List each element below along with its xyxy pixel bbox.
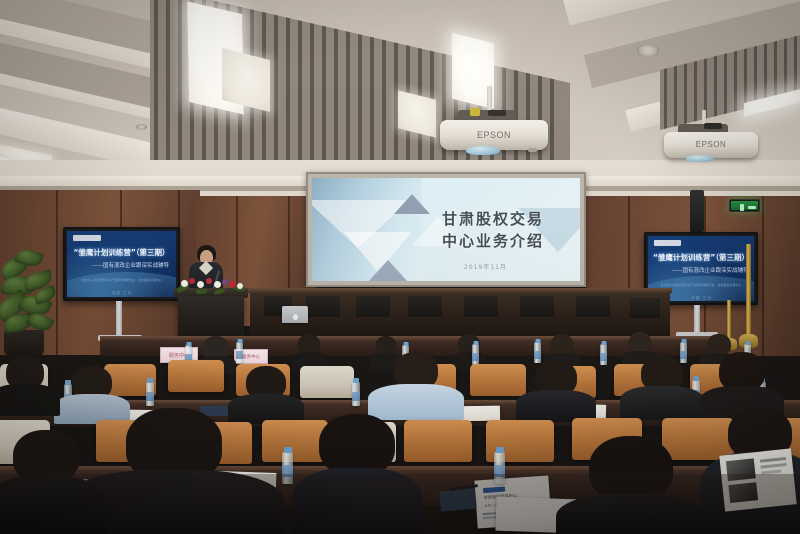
audience-person bbox=[516, 360, 596, 416]
water-bottle bbox=[472, 344, 479, 365]
magazine-text-block bbox=[760, 457, 786, 463]
projector-lens bbox=[466, 146, 500, 155]
tv-left-subtitle: ——国有混改企业跟深实战辅导 bbox=[67, 261, 176, 269]
water-bottle bbox=[352, 382, 360, 406]
chair bbox=[168, 360, 224, 392]
slide-triangle bbox=[368, 260, 408, 281]
monitor-panel bbox=[306, 296, 340, 317]
slide-triangle bbox=[394, 194, 430, 214]
projector-body: EPSON bbox=[664, 132, 758, 158]
wall-speaker bbox=[690, 190, 704, 232]
person-torso bbox=[0, 384, 60, 416]
tv-left-footer: 中 国 · 兰 州 bbox=[67, 291, 176, 296]
audience-person bbox=[292, 334, 326, 364]
person-torso bbox=[620, 386, 704, 420]
monitor-panel bbox=[408, 296, 442, 317]
podium-flower bbox=[214, 281, 221, 288]
floor bbox=[0, 474, 800, 534]
tv-left-screen: “雏鹰计划训练营”（第三期） ——国有混改企业跟深实战辅导 甘肃省人民政府国有资… bbox=[67, 231, 176, 297]
tv-right-title: “雏鹰计划训练营”（第三期） bbox=[648, 252, 754, 263]
podium-flower bbox=[222, 279, 228, 285]
exit-sign-glow bbox=[731, 201, 758, 210]
projection-screen: 甘肃股权交易 中心业务介绍 2019年11月 bbox=[306, 172, 586, 287]
tv-right-stand-pole bbox=[694, 305, 700, 335]
audience-person bbox=[620, 356, 704, 414]
magazine-text-block bbox=[761, 463, 787, 469]
podium-flower bbox=[206, 278, 212, 284]
tv-left-stand-pole bbox=[116, 301, 122, 337]
tv-right-subtitle: ——国有混改企业跟深实战辅导 bbox=[648, 266, 754, 274]
monitor-panel bbox=[520, 296, 554, 317]
exit-arrow-icon bbox=[748, 206, 756, 209]
podium-flower bbox=[189, 278, 195, 284]
chair bbox=[300, 366, 354, 398]
plant-pot bbox=[4, 330, 44, 356]
person-head bbox=[319, 414, 395, 476]
running-man-icon bbox=[740, 204, 744, 211]
ceiling-downlight bbox=[637, 44, 659, 57]
projector-body: EPSON bbox=[440, 120, 548, 150]
audience-person-blue-shirt bbox=[368, 352, 464, 414]
podium-flower bbox=[229, 281, 236, 288]
exit-sign bbox=[729, 199, 760, 212]
monitor-panel bbox=[576, 296, 610, 317]
apple-logo-icon bbox=[293, 314, 298, 320]
ceiling-downlight bbox=[136, 124, 147, 130]
water-bottle bbox=[600, 344, 607, 365]
projector-cable bbox=[704, 123, 722, 129]
projector-right: EPSON bbox=[664, 110, 764, 170]
monitor-panel bbox=[356, 296, 390, 317]
tv-left-fineprint: 甘肃省人民政府国有资产监督管理委员会 · 甘肃股权交易中心 bbox=[67, 278, 176, 282]
stanchion-post bbox=[746, 244, 751, 340]
projector-brand-label: EPSON bbox=[664, 140, 758, 149]
audience-person-polka bbox=[700, 352, 784, 416]
podium-flower bbox=[197, 281, 204, 288]
tv-monitor-left: “雏鹰计划训练营”（第三期） ——国有混改企业跟深实战辅导 甘肃省人民政府国有资… bbox=[63, 227, 180, 301]
organization-logo bbox=[73, 235, 101, 241]
podium-flower bbox=[181, 280, 188, 287]
slide-date: 2019年11月 bbox=[464, 262, 507, 271]
projection-screen-surface: 甘肃股权交易 中心业务介绍 2019年11月 bbox=[312, 178, 580, 281]
slide-title-line1: 甘肃股权交易 bbox=[442, 208, 544, 231]
projector-brand-label: EPSON bbox=[440, 130, 548, 140]
slide-title-line2: 中心业务介绍 bbox=[442, 230, 544, 253]
organization-logo bbox=[654, 240, 681, 246]
front-desk-top bbox=[248, 288, 672, 293]
monitor-panel bbox=[464, 296, 498, 317]
projector-cable bbox=[488, 110, 506, 116]
monitor-panel bbox=[630, 298, 660, 318]
conference-room-photo: EPSON EPSON bbox=[0, 0, 800, 534]
tv-right-fineprint: 甘肃省人民政府国有资产监督管理委员会 · 甘肃股权交易中心 bbox=[648, 283, 754, 287]
projector-lens bbox=[686, 155, 714, 162]
water-bottle bbox=[146, 382, 154, 406]
projector-cable bbox=[470, 108, 480, 116]
projector-center: EPSON bbox=[440, 86, 560, 156]
podium-flower bbox=[237, 283, 243, 289]
tv-left-title: “雏鹰计划训练营”（第三期） bbox=[67, 247, 176, 258]
laptop-macbook[interactable] bbox=[282, 306, 308, 323]
projector-foot bbox=[528, 148, 537, 152]
audience-person bbox=[0, 356, 60, 412]
water-bottle bbox=[236, 342, 243, 363]
